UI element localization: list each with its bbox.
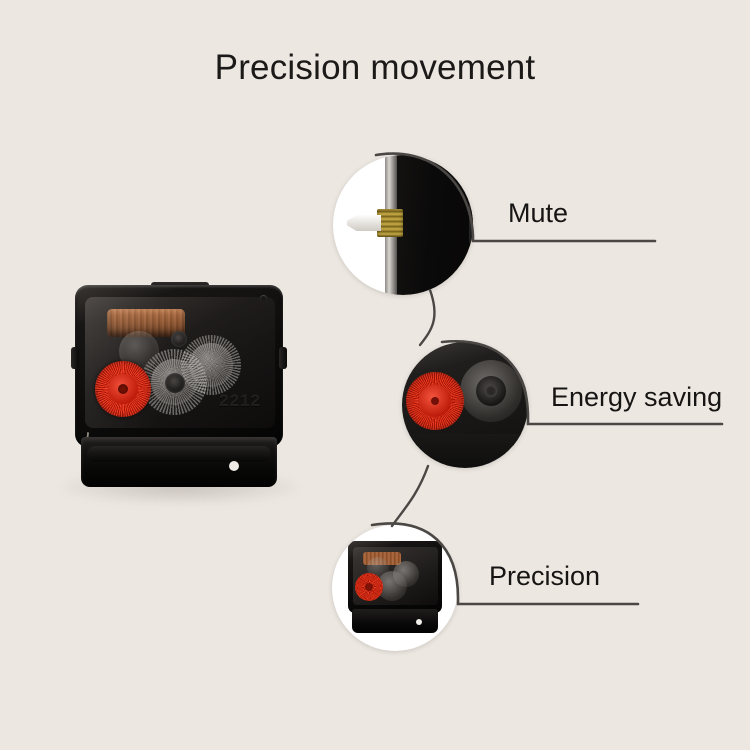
battery-indicator-dot <box>229 461 239 471</box>
ghost-gear-b <box>151 359 197 405</box>
white-hand-shaft <box>347 215 381 231</box>
callout-precision-red-gear <box>355 573 383 601</box>
feature-label-mute: Mute <box>508 198 568 229</box>
callout-precision-movement <box>346 541 444 637</box>
infographic-canvas: Precision movement 2212 <box>0 0 750 750</box>
callout-circle-energy-saving <box>402 342 528 468</box>
callout-mute-case-profile <box>395 155 473 295</box>
callout-mute-inner-block <box>469 185 473 243</box>
callout-circle-precision <box>332 525 458 651</box>
callout-precision-base <box>352 609 438 633</box>
case-embossed-text: 2212 <box>219 391 261 411</box>
red-drive-gear <box>95 361 151 417</box>
callout-circle-mute <box>333 155 473 295</box>
hero-product-image: 2212 <box>73 285 287 497</box>
mounting-lug-right <box>279 347 287 369</box>
copper-coil <box>107 309 185 337</box>
pinion-hub <box>171 331 187 347</box>
ghost-gear-hub <box>165 373 185 393</box>
movement-case: 2212 <box>75 285 283 447</box>
callout-precision-case <box>348 541 442 613</box>
callout-precision-base-dot <box>416 619 422 625</box>
feature-label-precision: Precision <box>489 561 600 592</box>
ghost-gear-a <box>189 343 233 387</box>
battery-compartment <box>81 437 277 487</box>
mounting-lug-left <box>71 347 79 369</box>
feature-label-energy-saving: Energy saving <box>551 382 722 413</box>
callout-energy-ghost-gear <box>460 360 522 422</box>
page-title: Precision movement <box>0 48 750 88</box>
ghost-gear-teeth-b <box>141 349 207 415</box>
callout-energy-red-gear <box>406 372 464 430</box>
callout-energy-lower-case <box>402 434 528 468</box>
